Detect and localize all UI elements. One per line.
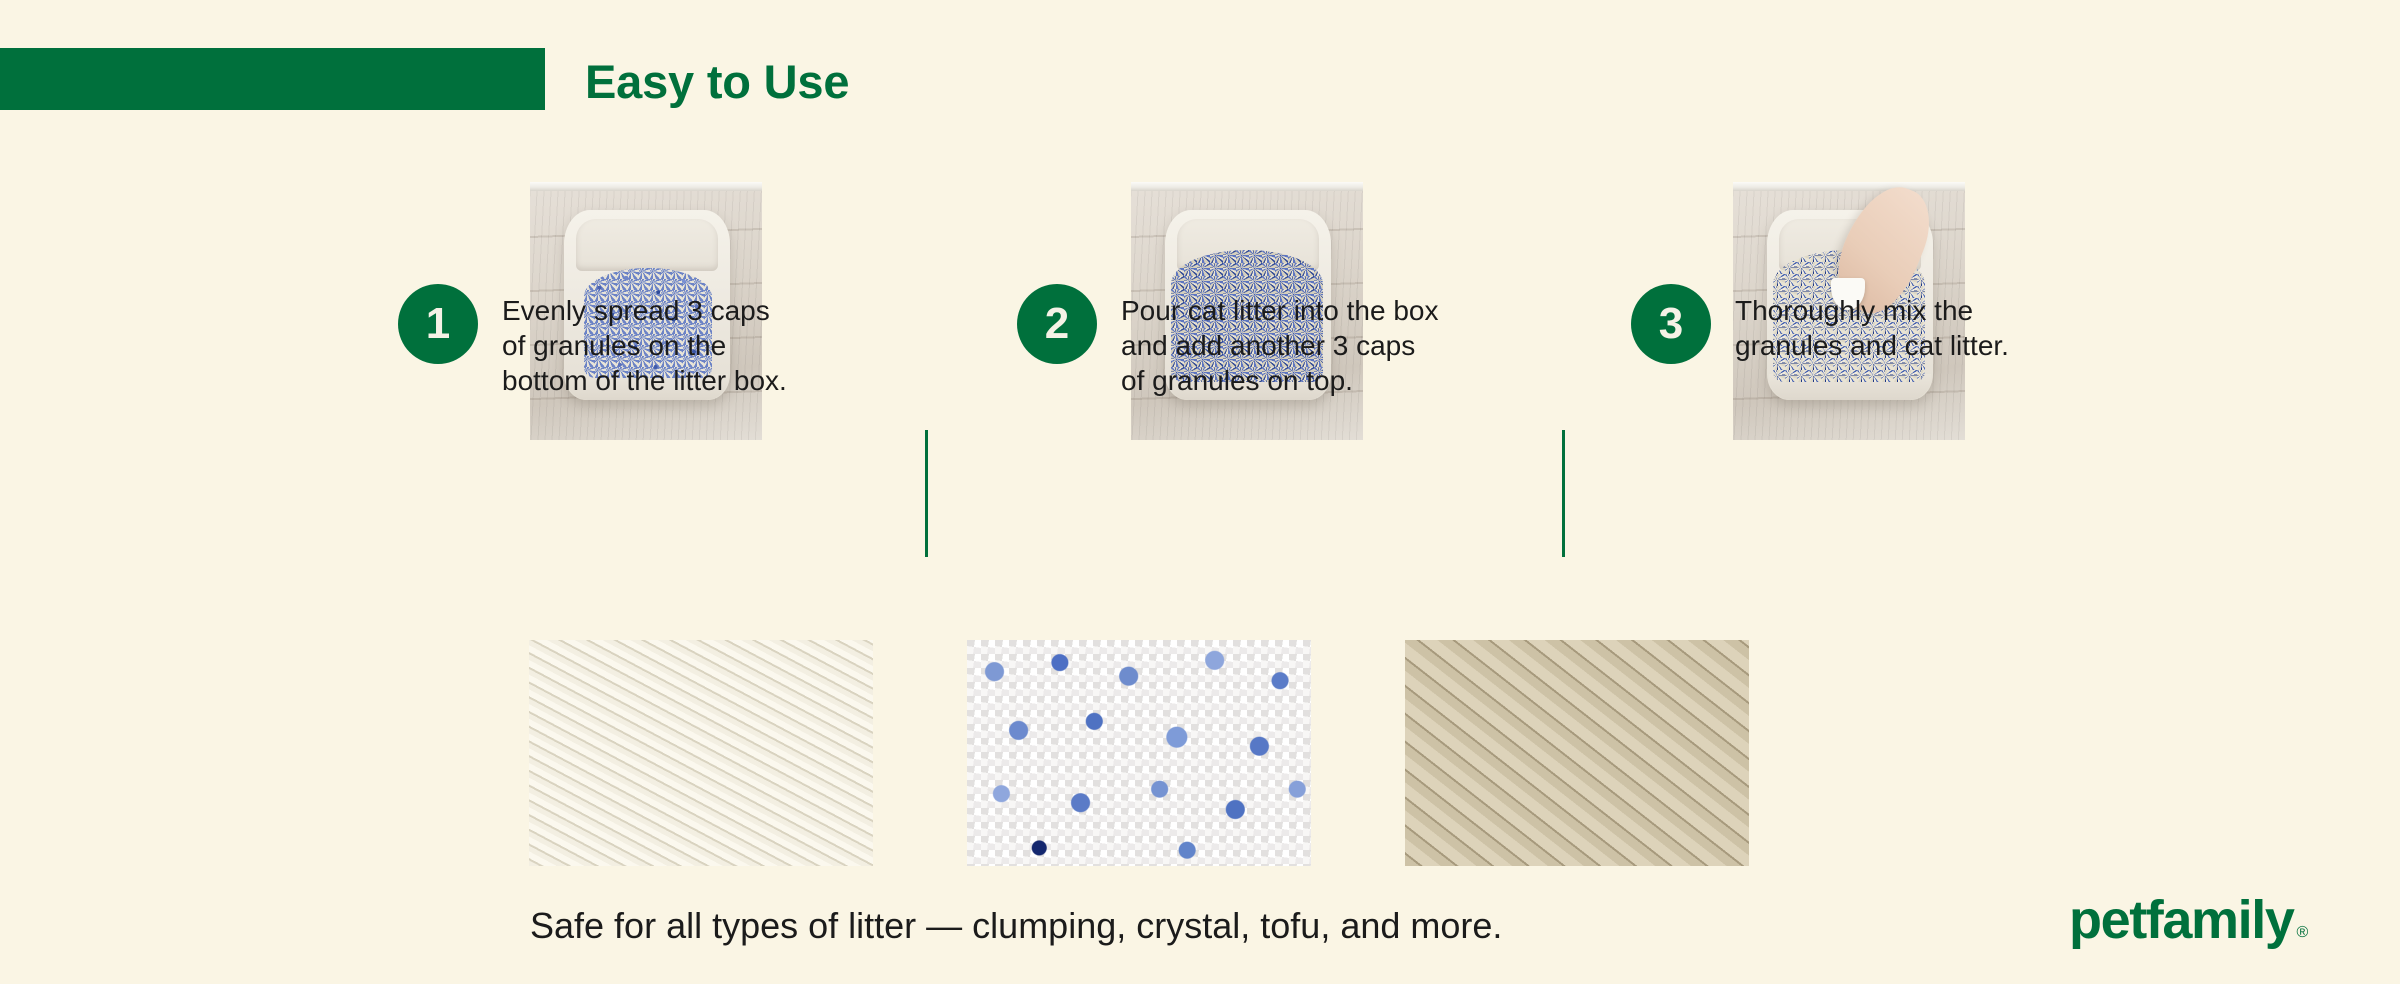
step-text-3: Thoroughly mix the granules and cat litt…: [1735, 293, 2009, 363]
step-number-badge-2: 2: [1017, 284, 1097, 364]
brand-logo: petfamily ®: [2069, 893, 2308, 947]
step-number-badge-1: 1: [398, 284, 478, 364]
step-text-2: Pour cat litter into the box and add ano…: [1121, 293, 1439, 398]
step-caption-1: 1 Evenly spread 3 caps of granules on th…: [398, 284, 787, 398]
footer-note: Safe for all types of litter — clumping,…: [530, 904, 1502, 948]
infographic-page: Easy to Use: [0, 0, 2400, 984]
header-accent-bar: [0, 48, 545, 110]
texture-tofu-litter: [529, 640, 873, 866]
texture-wood-pellet-litter: [1405, 640, 1749, 866]
wall-trim: [1131, 182, 1363, 191]
wall-trim: [1733, 182, 1965, 191]
step-divider-2: [1562, 430, 1565, 557]
step-number-badge-3: 3: [1631, 284, 1711, 364]
brand-wordmark: petfamily: [2069, 893, 2293, 947]
wall-trim: [530, 182, 762, 191]
step-text-1: Evenly spread 3 caps of granules on the …: [502, 293, 787, 398]
page-title: Easy to Use: [585, 54, 849, 110]
step-divider-1: [925, 430, 928, 557]
registered-trademark-icon: ®: [2296, 925, 2308, 941]
texture-crystal-litter: [967, 640, 1311, 866]
step-caption-2: 2 Pour cat litter into the box and add a…: [1017, 284, 1439, 398]
litter-box-rim: [576, 219, 718, 271]
step-caption-3: 3 Thoroughly mix the granules and cat li…: [1631, 284, 2009, 364]
